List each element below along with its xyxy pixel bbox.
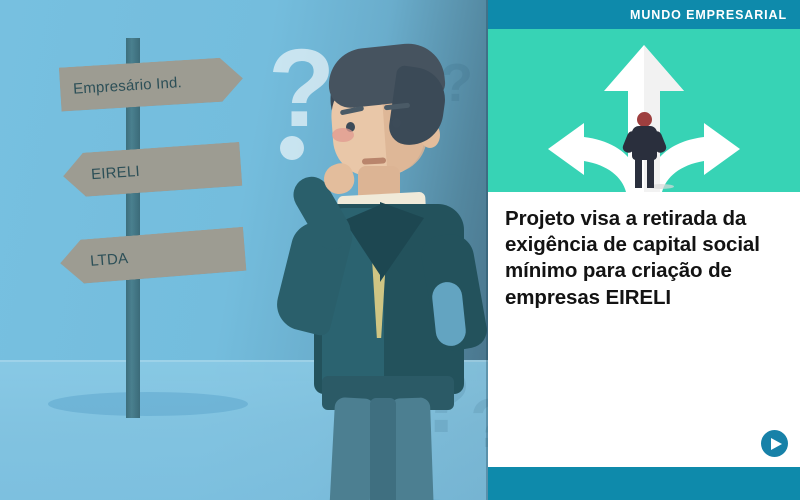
crossroads-arrows-thumbnail[interactable] — [488, 29, 800, 192]
play-button-circle[interactable] — [761, 430, 788, 457]
leg-left — [329, 397, 375, 500]
signpost-shadow — [48, 392, 248, 416]
figure-body — [632, 126, 657, 160]
card-body: Projeto visa a retirada da exigência de … — [488, 192, 800, 321]
figure-head — [637, 112, 652, 127]
signpost-sign-empresario: Empresário Ind. — [59, 56, 244, 111]
signpost-sign-eireli: EIRELI — [62, 142, 243, 198]
mouth — [362, 157, 386, 164]
category-label: MUNDO EMPRESARIAL — [630, 8, 787, 22]
card-footer-bar — [488, 467, 800, 500]
article-card[interactable]: MUNDO EMPRESARIAL — [488, 0, 800, 467]
figure-leg-left — [635, 158, 642, 188]
signpost-sign-label: LTDA — [90, 249, 129, 269]
business-entity-choice-illustration: ? ? ? ? Empresário Ind. EIRELI LTDA — [0, 0, 488, 500]
screenshot-stage: ? ? ? ? Empresário Ind. EIRELI LTDA — [0, 0, 800, 500]
play-button[interactable] — [761, 430, 788, 457]
card-header: MUNDO EMPRESARIAL — [488, 0, 800, 29]
cheek-blush — [332, 128, 354, 142]
eye-right — [392, 118, 401, 128]
play-icon — [771, 438, 782, 450]
businessman-silhouette — [624, 112, 664, 188]
thinking-businessman — [288, 46, 488, 500]
leg-right — [390, 397, 434, 500]
figure-leg-right — [647, 158, 654, 188]
leg-shading — [370, 398, 396, 500]
signpost-sign-label: EIRELI — [91, 162, 141, 182]
signpost-sign-label: Empresário Ind. — [73, 74, 183, 98]
signpost-sign-ltda: LTDA — [59, 227, 247, 285]
article-headline[interactable]: Projeto visa a retirada da exigência de … — [505, 206, 783, 311]
